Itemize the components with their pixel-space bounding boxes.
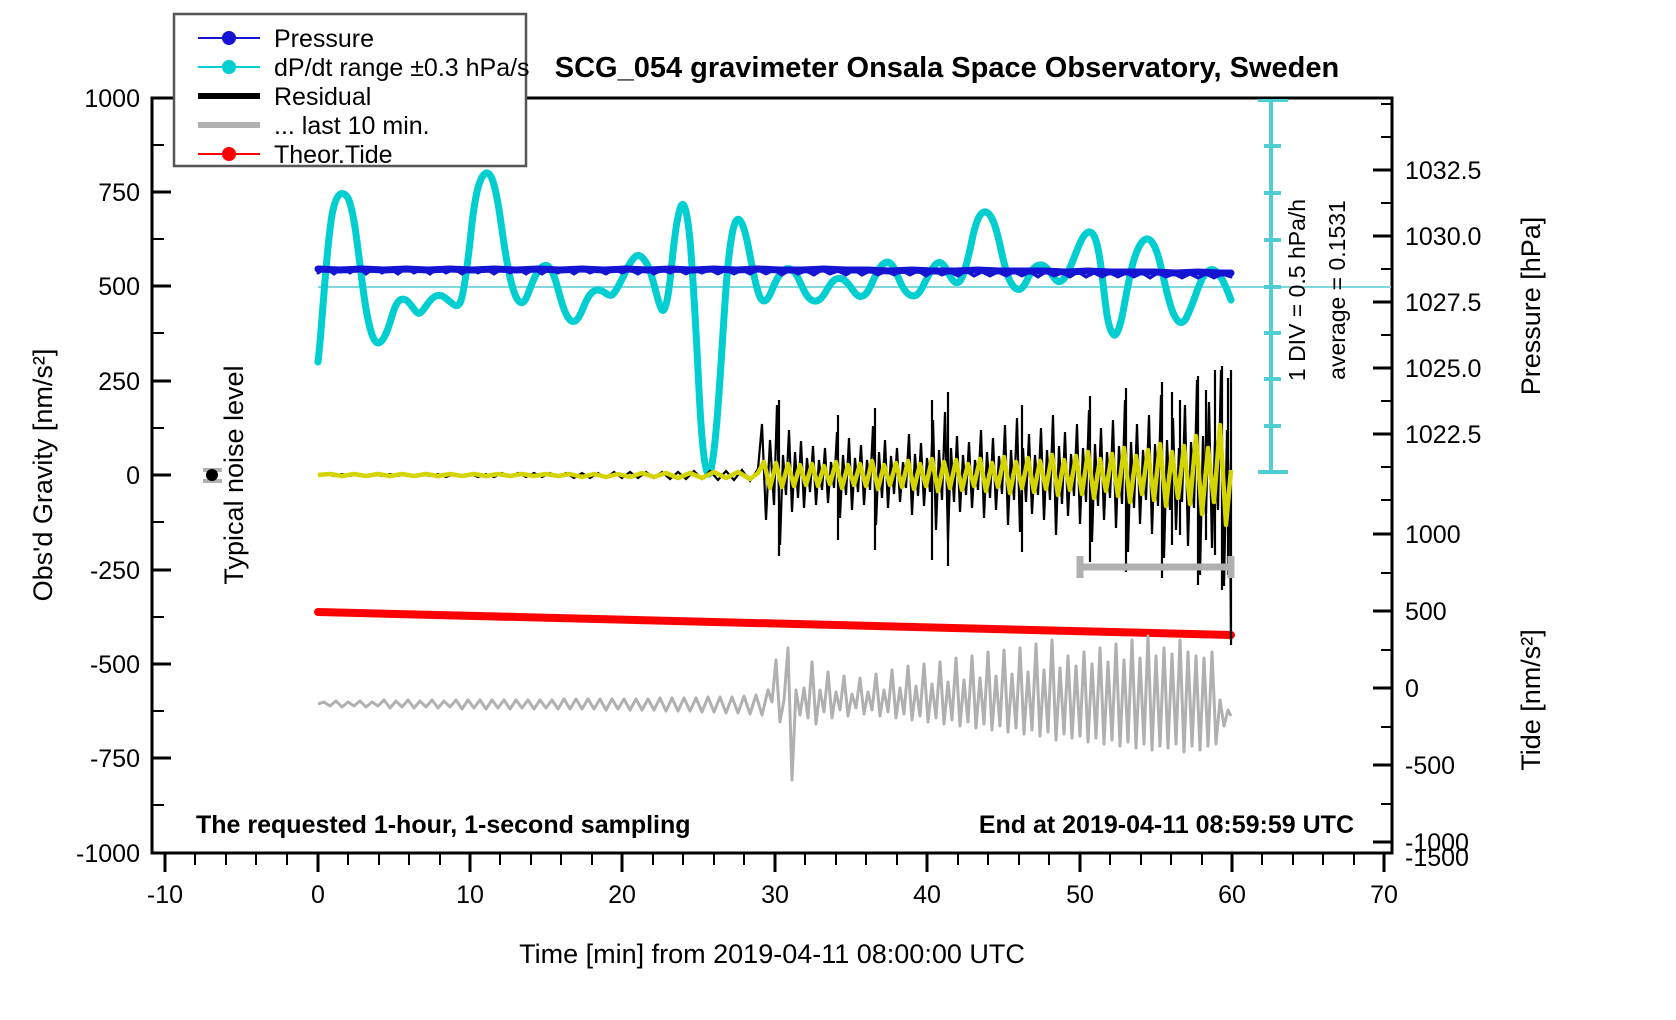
dpdt-marker-icon [222, 60, 236, 74]
tide-tick-label: -500 [1405, 752, 1455, 780]
xtick-label: 50 [1066, 881, 1094, 909]
tide-axis-title: Tide [nm/s²] [1516, 629, 1546, 771]
xtick-label: -10 [147, 881, 183, 909]
xtick-label: 30 [761, 881, 789, 909]
tide-tick-label: 500 [1405, 598, 1447, 626]
page-title: SCG_054 gravimeter Onsala Space Observat… [555, 52, 1339, 84]
legend-label: Theor.Tide [274, 141, 393, 169]
div-scale-label: 1 DIV = 0.5 hPa/h [1284, 199, 1310, 381]
ytick-label: 0 [126, 462, 140, 490]
pressure-axis-title: Pressure [hPa] [1516, 217, 1546, 396]
legend-label: Residual [274, 83, 371, 111]
xtick-label: 10 [456, 881, 484, 909]
x-axis-title: Time [min] from 2019‑04‑11 08:00:00 UTC [519, 939, 1025, 969]
xtick-label: 20 [608, 881, 636, 909]
legend-label: dP/dt range ±0.3 hPa/s [274, 54, 530, 82]
typical-noise-label: Typical noise level [219, 365, 249, 584]
tide-tick-label: 0 [1405, 675, 1419, 703]
sampling-note: The requested 1‑hour, 1‑second sampling [196, 811, 691, 839]
pressure-marker-icon [222, 31, 236, 45]
legend-label: ... last 10 min. [274, 112, 430, 140]
y-axis-title: Obs'd Gravity [nm/s²] [28, 349, 58, 602]
pressure-tick-label: 1027.5 [1405, 289, 1481, 317]
ytick-label: 1000 [84, 85, 140, 113]
xtick-label: 0 [311, 881, 325, 909]
end-time-note: End at 2019‑04‑11 08:59:59 UTC [979, 811, 1354, 839]
legend: Pressure dP/dt range ±0.3 hPa/s Residual… [174, 14, 530, 169]
ytick-label: 500 [98, 273, 140, 301]
pressure-tick-label: 1025.0 [1405, 355, 1481, 383]
pressure-tick-label: 1032.5 [1405, 157, 1481, 185]
ytick-label: -750 [90, 745, 140, 773]
legend-label: Pressure [274, 25, 374, 53]
xtick-label: 60 [1218, 881, 1246, 909]
ytick-label: 250 [98, 368, 140, 396]
xtick-label: 40 [913, 881, 941, 909]
pressure-tick-label: 1030.0 [1405, 223, 1481, 251]
tide-marker-icon [222, 147, 236, 161]
ytick-label: -1000 [76, 840, 140, 868]
tide-tick-label: 1000 [1405, 521, 1461, 549]
ytick-label: -250 [90, 557, 140, 585]
ytick-label: -500 [90, 651, 140, 679]
pressure-tick-label: 1022.5 [1405, 421, 1481, 449]
average-label: average = 0.1531 [1324, 200, 1350, 380]
ytick-label: 750 [98, 179, 140, 207]
tide-tick-label-last: -1500 [1405, 844, 1469, 872]
chart-root: 1000 750 500 250 0 -250 -500 -750 -1000 … [0, 0, 1676, 1020]
xtick-label: 70 [1370, 881, 1398, 909]
gravimeter-plot: 1000 750 500 250 0 -250 -500 -750 -1000 … [0, 0, 1676, 1020]
